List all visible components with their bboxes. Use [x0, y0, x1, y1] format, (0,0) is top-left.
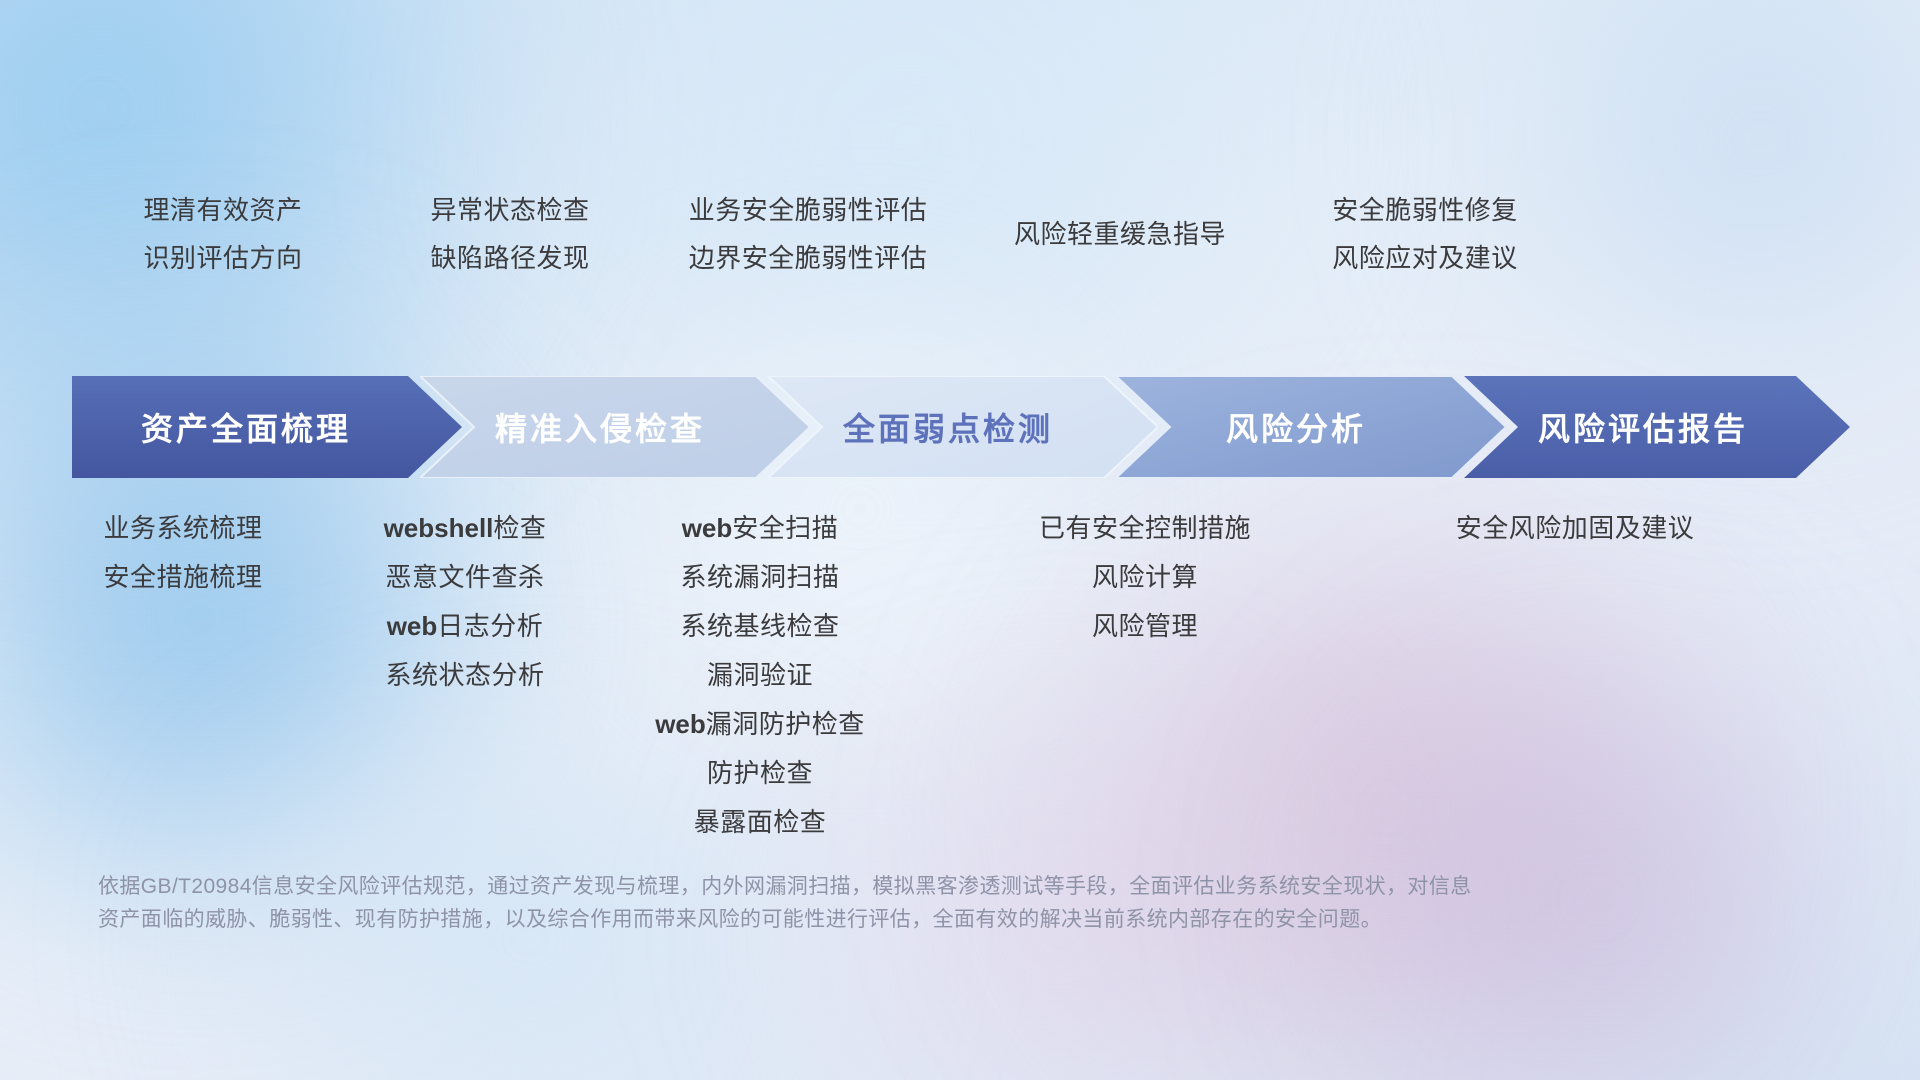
stage-arrow-2[interactable]: 精准入侵检查	[420, 376, 810, 478]
top-column-5: 安全脆弱性修复 风险应对及建议	[1230, 186, 1620, 282]
top-item: 安全脆弱性修复	[1332, 186, 1518, 234]
bottom-item: webshell检查	[384, 504, 547, 553]
bottom-item-cjk: 恶意文件查杀	[385, 562, 544, 592]
top-item: 业务安全脆弱性评估	[689, 186, 928, 234]
bottom-item: 安全风险加固及建议	[1456, 504, 1695, 553]
bottom-item-cjk: 漏洞验证	[707, 660, 813, 690]
bottom-item-latin: web	[387, 611, 438, 641]
bottom-item: 已有安全控制措施	[1039, 504, 1251, 553]
stage-arrow-4[interactable]: 风险分析	[1116, 376, 1506, 478]
top-item: 缺陷路径发现	[430, 234, 589, 282]
top-item: 理清有效资产	[143, 186, 302, 234]
stage-label: 资产全面梳理	[141, 404, 351, 450]
bottom-item-latin: web	[682, 513, 733, 543]
bottom-item: 防护检查	[707, 749, 813, 798]
bottom-item-cjk: 系统漏洞扫描	[680, 562, 839, 592]
stage-arrow-1[interactable]: 资产全面梳理	[72, 376, 462, 478]
stage-label: 风险分析	[1226, 404, 1366, 450]
bottom-item: web日志分析	[387, 602, 544, 651]
bottom-item-cjk: 检查	[493, 513, 546, 543]
bottom-item-cjk: 系统基线检查	[680, 611, 839, 641]
top-item: 异常状态检查	[430, 186, 589, 234]
bottom-item: web安全扫描	[682, 504, 839, 553]
bottom-item: 系统漏洞扫描	[680, 553, 839, 602]
bottom-item: 暴露面检查	[694, 798, 827, 847]
footer-description: 依据GB/T20984信息安全风险评估规范，通过资产发现与梳理，内外网漏洞扫描，…	[98, 870, 1838, 936]
bottom-item: web漏洞防护检查	[655, 700, 865, 749]
stage-arrow-5[interactable]: 风险评估报告	[1464, 376, 1850, 478]
bottom-item-cjk: 日志分析	[437, 611, 543, 641]
bottom-item-cjk: 安全扫描	[732, 513, 838, 543]
bottom-item: 风险管理	[1092, 602, 1198, 651]
bottom-item-cjk: 暴露面检查	[694, 807, 827, 837]
bottom-column-4: 已有安全控制措施 风险计算 风险管理	[1000, 504, 1290, 651]
bottom-item-latin: webshell	[384, 513, 494, 543]
bottom-column-2: webshell检查 恶意文件查杀 web日志分析 系统状态分析	[330, 504, 600, 700]
bottom-item: 恶意文件查杀	[385, 553, 544, 602]
bottom-item-cjk: 防护检查	[707, 758, 813, 788]
stage-label: 风险评估报告	[1538, 404, 1748, 450]
bottom-item: 系统状态分析	[385, 651, 544, 700]
bottom-column-1: 业务系统梳理 安全措施梳理	[48, 504, 318, 602]
top-item: 风险轻重缓急指导	[1014, 210, 1226, 258]
bottom-item: 业务系统梳理	[103, 504, 262, 553]
stage-arrow-banner: 资产全面梳理 精准入侵检查	[72, 376, 1850, 478]
stage-label: 全面弱点检测	[843, 404, 1053, 450]
process-diagram: 理清有效资产 识别评估方向 异常状态检查 缺陷路径发现 业务安全脆弱性评估 边界…	[0, 0, 1920, 1080]
stage-arrow-3[interactable]: 全面弱点检测	[768, 376, 1158, 478]
bottom-item: 安全措施梳理	[103, 553, 262, 602]
bottom-item-cjk: 系统状态分析	[385, 660, 544, 690]
bottom-item-latin: web	[655, 709, 706, 739]
top-item: 边界安全脆弱性评估	[689, 234, 928, 282]
bottom-item: 漏洞验证	[707, 651, 813, 700]
top-column-1: 理清有效资产 识别评估方向	[58, 186, 388, 282]
bottom-item-cjk: 漏洞防护检查	[706, 709, 865, 739]
stage-label: 精准入侵检查	[495, 404, 705, 450]
bottom-item: 风险计算	[1092, 553, 1198, 602]
footer-line-1: 依据GB/T20984信息安全风险评估规范，通过资产发现与梳理，内外网漏洞扫描，…	[98, 870, 1838, 903]
top-item: 风险应对及建议	[1332, 234, 1518, 282]
bottom-column-3: web安全扫描 系统漏洞扫描 系统基线检查 漏洞验证 web漏洞防护检查 防护检…	[615, 504, 905, 847]
bottom-column-5: 安全风险加固及建议	[1430, 504, 1720, 553]
top-item: 识别评估方向	[143, 234, 302, 282]
footer-line-2: 资产面临的威胁、脆弱性、现有防护措施，以及综合作用而带来风险的可能性进行评估，全…	[98, 903, 1838, 936]
top-descriptor-rows: 理清有效资产 识别评估方向 异常状态检查 缺陷路径发现 业务安全脆弱性评估 边界…	[0, 186, 1920, 276]
bottom-item: 系统基线检查	[680, 602, 839, 651]
